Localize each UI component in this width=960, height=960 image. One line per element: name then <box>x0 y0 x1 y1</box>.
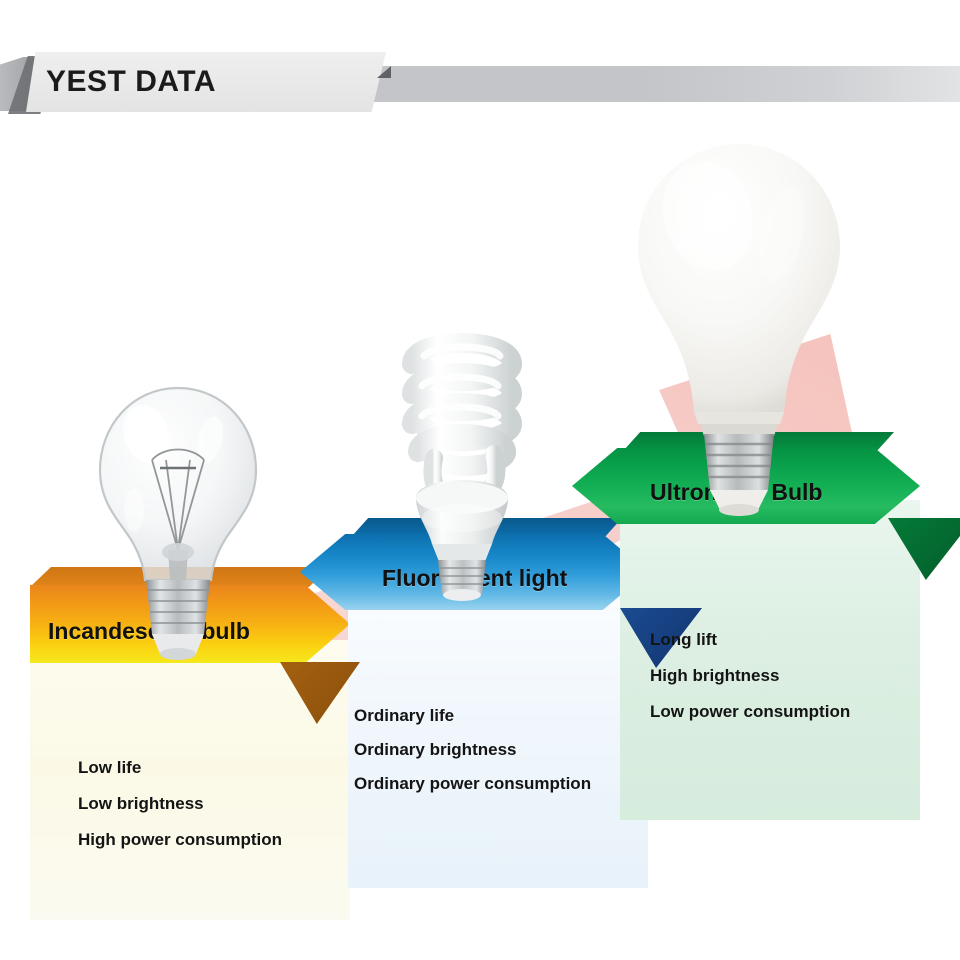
feature-item: Low power consumption <box>650 702 850 722</box>
panel-incandescent[interactable]: Incandescent bulb Low life Low brightnes… <box>30 640 350 920</box>
panel-ultron-led[interactable]: Ultron Led Bulb Long lift High brightnes… <box>620 500 920 820</box>
feature-list-incandescent: Low life Low brightness High power consu… <box>78 758 282 850</box>
feature-item: Long lift <box>650 630 850 650</box>
feature-list-ultron-led: Long lift High brightness Low power cons… <box>650 630 850 722</box>
header-ribbon: YEST DATA <box>26 52 386 112</box>
led-bulb-icon <box>630 138 848 516</box>
feature-item: Low brightness <box>78 794 282 814</box>
feature-item: High power consumption <box>78 830 282 850</box>
feature-list-fluorescent: Ordinary life Ordinary brightness Ordina… <box>354 706 591 794</box>
page-title: YEST DATA <box>46 65 216 99</box>
feature-item: Ordinary life <box>354 706 591 726</box>
incandescent-bulb-icon <box>88 382 268 662</box>
feature-item: High brightness <box>650 666 850 686</box>
feature-item: Low life <box>78 758 282 778</box>
header-gray-band-fade <box>640 66 960 102</box>
cfl-spiral-bulb-icon <box>372 302 552 602</box>
feature-item: Ordinary brightness <box>354 740 591 760</box>
feature-item: Ordinary power consumption <box>354 774 591 794</box>
infographic-canvas: YEST DATA Incandescent bulb Low life Low… <box>0 0 960 960</box>
panel-fluorescent[interactable]: Fluorescent light Ordinary life Ordinary… <box>348 588 648 888</box>
